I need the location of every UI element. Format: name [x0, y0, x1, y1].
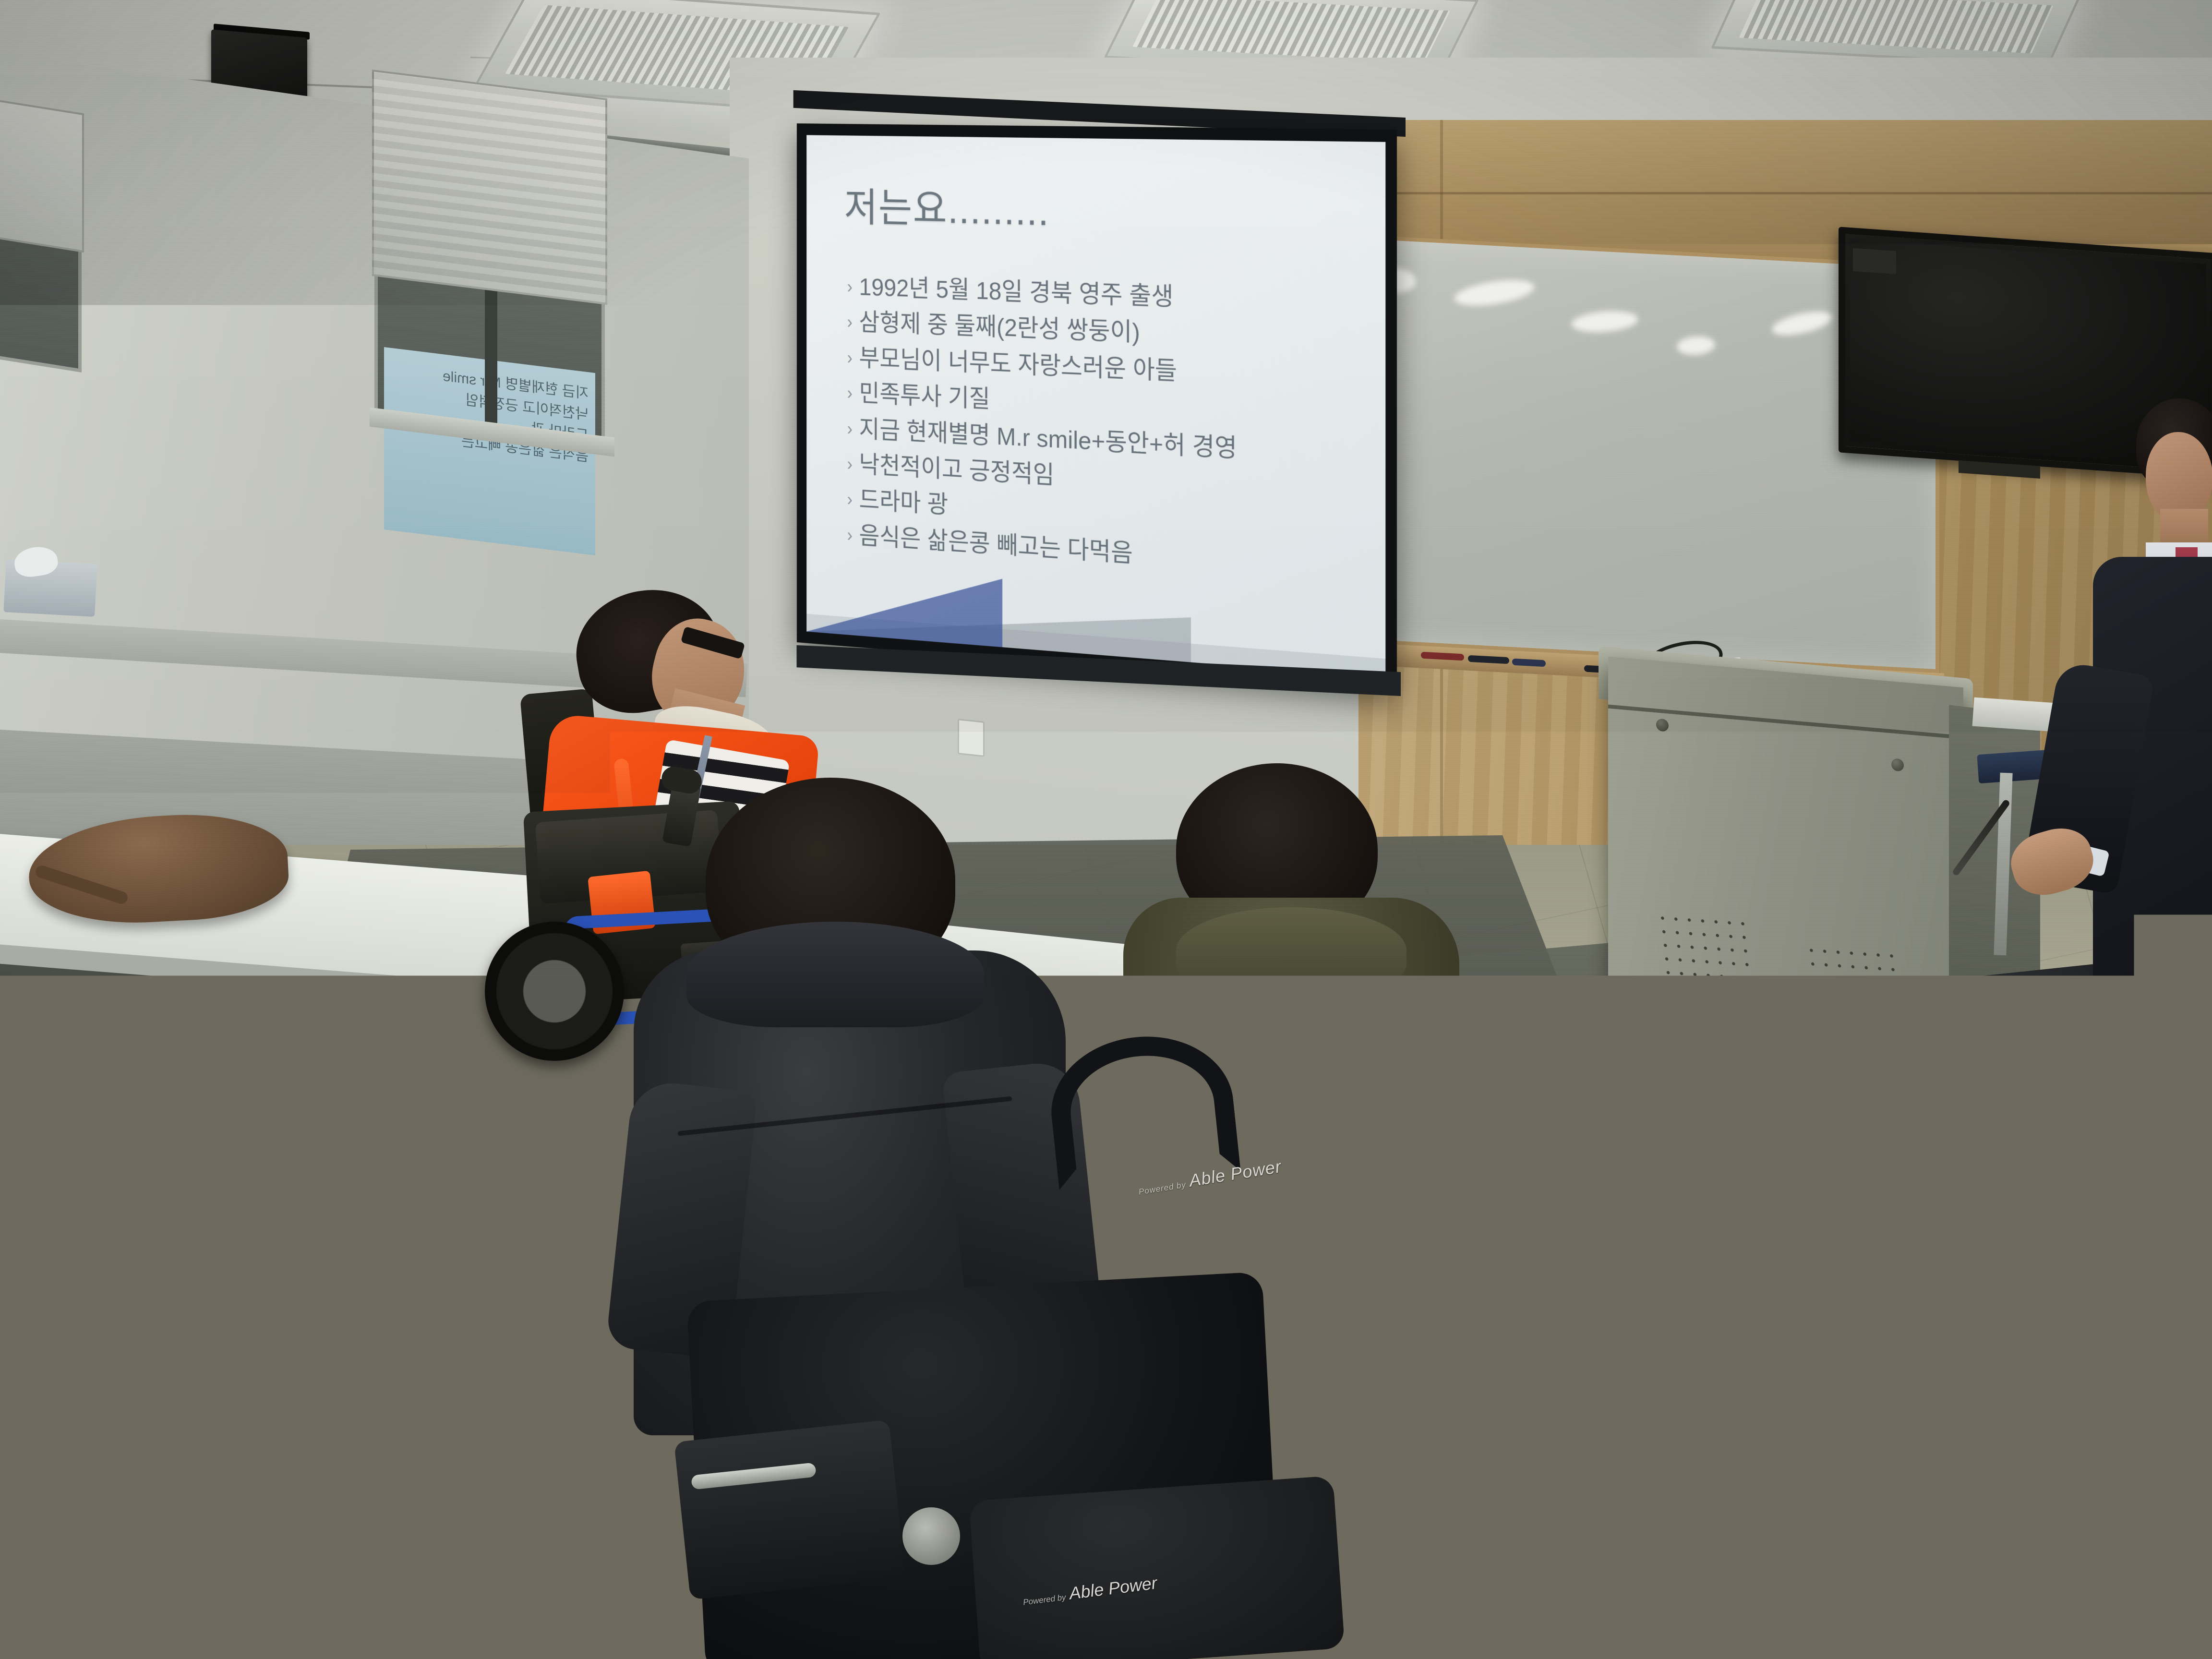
whiteboard-glare — [1570, 309, 1639, 335]
window-blind[interactable] — [0, 98, 84, 252]
louver-grid — [1739, 0, 2054, 54]
slide-bullet-text: 삼형제 중 둘째(2란성 쌍둥이) — [859, 309, 1140, 347]
slide-title: 저는요......... — [844, 175, 1049, 237]
slide-bullet-text: 낙천적이고 긍정적임 — [859, 451, 1055, 490]
person-presenter — [2064, 398, 2212, 1382]
podium-speaker-grille — [1655, 911, 1763, 1034]
wall-outlet[interactable] — [958, 719, 985, 757]
lectern[interactable] — [1608, 657, 1963, 1230]
projection-screen: 저는요......... ›1992년 5월 18일 경북 영주 출생 ›삼형제… — [797, 123, 1397, 691]
bullet-marker-icon: › — [847, 488, 852, 512]
whiteboard-glare — [1676, 335, 1717, 356]
whiteboard-glare — [1769, 307, 1835, 340]
bullet-marker-icon: › — [847, 452, 852, 477]
slide-bullet-text: 민족투사 기질 — [859, 380, 990, 413]
shoe — [2091, 1313, 2212, 1370]
slide-bullet-text: 1992년 5월 18일 경북 영주 출생 — [859, 273, 1174, 311]
marker-black[interactable] — [1468, 655, 1509, 664]
podium-screw — [1891, 758, 1904, 771]
slide-bullet-text: 드라마 광 — [859, 487, 948, 519]
bullet-marker-icon: › — [847, 346, 852, 370]
slide-surface: 저는요......... ›1992년 5월 18일 경북 영주 출생 ›삼형제… — [806, 135, 1385, 678]
window-blind-slats — [372, 72, 607, 302]
bullet-marker-icon: › — [847, 381, 852, 406]
wood-seam — [1358, 192, 2212, 194]
wheelchair-storage-bag[interactable] — [969, 1476, 1345, 1659]
marker-red[interactable] — [1421, 652, 1464, 661]
wheelchair-armrest-pad — [674, 1419, 905, 1599]
jacket-hood — [686, 922, 984, 1027]
wheelchair-drive-wheel — [485, 922, 624, 1061]
brand-prefix: Powered by — [1138, 1180, 1187, 1196]
classroom-photo: 지금 현재별명 M.r smile 낙천적이고 긍정적임 드라마 광 음식은 삶… — [0, 0, 2212, 1659]
slide-decoration-blue — [806, 565, 1002, 647]
bullet-marker-icon: › — [847, 275, 852, 299]
wheelchair-clip — [902, 1507, 960, 1565]
bullet-marker-icon: › — [847, 310, 852, 335]
louver-grid — [1132, 0, 1450, 62]
slide-bullet-list: ›1992년 5월 18일 경북 영주 출생 ›삼형제 중 둘째(2란성 쌍둥이… — [847, 270, 1360, 589]
trousers — [2112, 1037, 2212, 1344]
podium-screw — [1656, 718, 1669, 732]
podium-speaker-grille — [1804, 943, 1911, 1067]
jacket-collar — [1176, 907, 1407, 994]
marker-blue[interactable] — [1512, 659, 1546, 667]
tv-brand-badge — [1853, 248, 1896, 274]
bullet-marker-icon: › — [847, 523, 852, 548]
bullet-marker-icon: › — [847, 417, 852, 441]
brand-prefix: Powered by — [1022, 1593, 1066, 1607]
whiteboard-glare — [1452, 276, 1537, 310]
